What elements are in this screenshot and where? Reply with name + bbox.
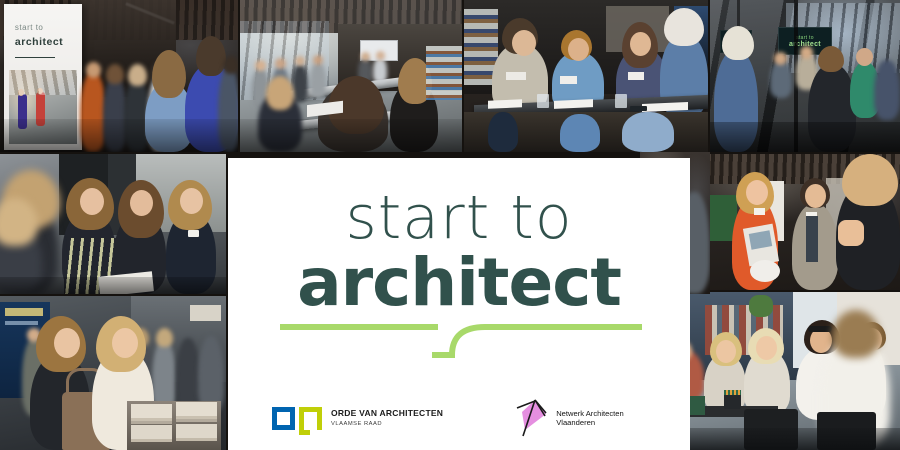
logo-netwerk-architecten-vlaanderen[interactable]: Netwerk Architecten Vlaanderen bbox=[515, 398, 624, 438]
title-card: start to architect ORDE VAN ARCHITECTEN … bbox=[228, 158, 690, 450]
blue-square-icon bbox=[272, 407, 295, 430]
headline-line2: architect bbox=[228, 250, 690, 316]
netwerk-architecten-line1: Netwerk Architecten bbox=[556, 409, 624, 418]
orde-van-architecten-name: ORDE VAN ARCHITECTEN bbox=[331, 409, 443, 418]
netwerk-architecten-kite-icon bbox=[515, 398, 549, 438]
photo-top-right: start to architect bbox=[710, 0, 900, 152]
banner-line2: architect bbox=[15, 36, 63, 48]
poster-collage: start to architect bbox=[0, 0, 900, 450]
banner-rule bbox=[15, 57, 56, 59]
orde-van-architecten-text: ORDE VAN ARCHITECTEN VLAAMSE RAAD bbox=[331, 409, 443, 427]
photo-top-left: start to architect bbox=[0, 0, 238, 152]
accent-rule bbox=[280, 324, 642, 358]
photo-top-center-right bbox=[464, 0, 708, 152]
photo-bottom-left bbox=[0, 296, 226, 450]
headline: start to bbox=[228, 188, 690, 248]
orde-van-architecten-mark-icon bbox=[272, 407, 322, 430]
accent-rule-svg bbox=[280, 324, 642, 358]
logo-orde-van-architecten[interactable]: ORDE VAN ARCHITECTEN VLAAMSE RAAD bbox=[272, 407, 443, 430]
photo-bottom-right bbox=[656, 292, 900, 450]
headline-line2-wrap: architect bbox=[228, 250, 690, 316]
headline-line1: start to bbox=[228, 188, 690, 248]
netwerk-architecten-line2: Vlaanderen bbox=[556, 418, 624, 427]
photo-middle-left bbox=[0, 154, 226, 294]
netwerk-architecten-text: Netwerk Architecten Vlaanderen bbox=[556, 409, 624, 427]
logo-row: ORDE VAN ARCHITECTEN VLAAMSE RAAD Netwer… bbox=[228, 398, 690, 438]
green-open-square-icon bbox=[299, 407, 322, 430]
orde-van-architecten-subtitle: VLAAMSE RAAD bbox=[331, 421, 443, 427]
photo-top-center-left bbox=[240, 0, 462, 152]
banner-line1: start to bbox=[15, 23, 43, 32]
photo-middle-right bbox=[706, 154, 900, 290]
